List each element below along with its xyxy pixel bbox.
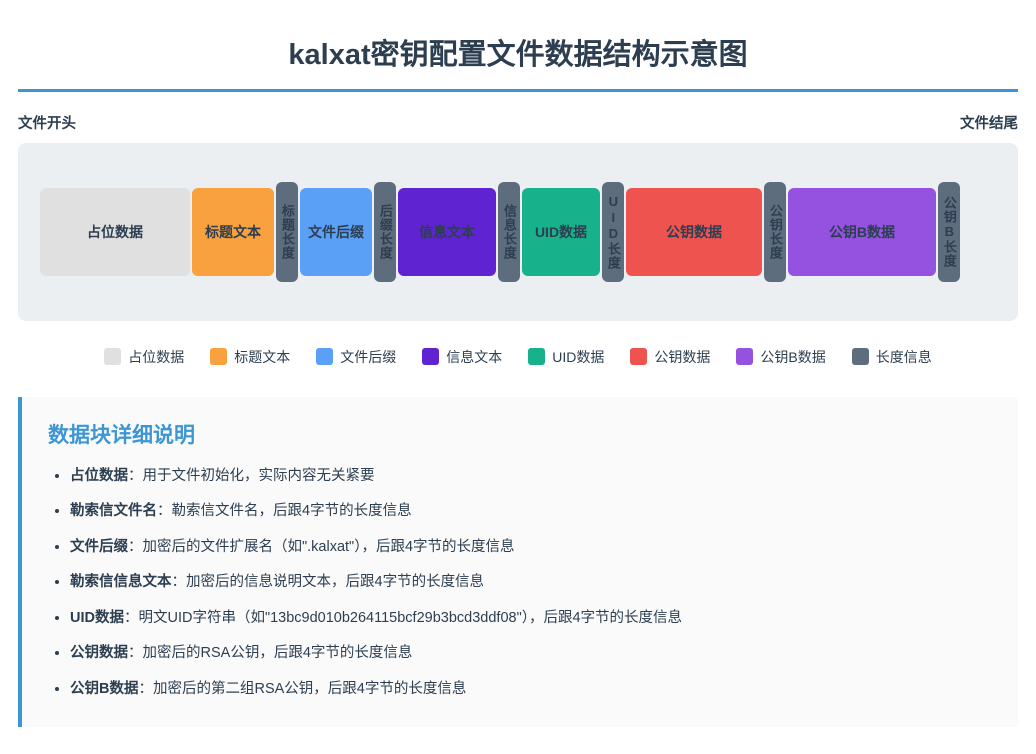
page-title: kalxat密钥配置文件数据结构示意图 (18, 38, 1018, 73)
detail-item-term: 勒索信文件名 (70, 503, 157, 519)
legend-swatch-icon (104, 348, 121, 365)
legend-item-label: 标题文本 (234, 347, 290, 367)
legend-swatch-icon (316, 348, 333, 365)
diagram-block-9: 公钥数据 (626, 188, 762, 276)
legend-item-2: 文件后缀 (316, 347, 396, 367)
diagram-block-8: UID长度 (602, 182, 624, 282)
detail-card: 数据块详细说明 占位数据：用于文件初始化，实际内容无关紧要勒索信文件名：勒索信文… (18, 397, 1018, 727)
legend-item-label: UID数据 (552, 347, 604, 367)
diagram-block-1: 标题文本 (192, 188, 274, 276)
detail-item-term: 文件后缀 (70, 539, 128, 555)
detail-card-title: 数据块详细说明 (48, 419, 992, 449)
file-start-label: 文件开头 (18, 112, 76, 133)
file-end-label: 文件结尾 (960, 112, 1018, 133)
detail-list-item-4: UID数据：明文UID字符串（如"13bc9d010b264115bcf29b3… (70, 607, 992, 629)
diagram-block-label: 公钥B数据 (829, 222, 895, 242)
legend-item-1: 标题文本 (210, 347, 290, 367)
diagram-block-0: 占位数据 (40, 188, 190, 276)
legend-item-4: UID数据 (528, 347, 604, 367)
detail-item-description: ：用于文件初始化，实际内容无关紧要 (128, 468, 375, 484)
legend-item-label: 信息文本 (446, 347, 502, 367)
detail-item-description: ：加密后的信息说明文本，后跟4字节的长度信息 (172, 574, 485, 590)
detail-item-term: 公钥B数据 (70, 681, 138, 697)
diagram-block-label: 公钥数据 (666, 222, 722, 242)
endpoint-labels: 文件开头 文件结尾 (18, 112, 1018, 133)
legend-item-0: 占位数据 (104, 347, 184, 367)
detail-item-description: ：明文UID字符串（如"13bc9d010b264115bcf29b3bcd3d… (124, 610, 682, 626)
diagram-blocks-row: 占位数据标题文本标题长度文件后缀后缀长度信息文本信息长度UID数据UID长度公钥… (40, 143, 996, 321)
detail-item-description: ：勒索信文件名，后跟4字节的长度信息 (157, 503, 412, 519)
legend-swatch-icon (422, 348, 439, 365)
diagram-block-label: 标题长度 (280, 204, 294, 260)
detail-item-description: ：加密后的第二组RSA公钥，后跟4字节的长度信息 (138, 681, 466, 697)
legend-item-5: 公钥数据 (630, 347, 710, 367)
diagram-block-4: 后缀长度 (374, 182, 396, 282)
diagram-block-label: 后缀长度 (378, 204, 392, 260)
legend-swatch-icon (210, 348, 227, 365)
diagram-block-label: 公钥B长度 (942, 196, 956, 268)
diagram-legend: 占位数据标题文本文件后缀信息文本UID数据公钥数据公钥B数据长度信息 (18, 347, 1018, 367)
legend-swatch-icon (736, 348, 753, 365)
diagram-block-label: UID数据 (535, 222, 587, 242)
diagram-block-label: 标题文本 (205, 222, 261, 242)
detail-list-item-0: 占位数据：用于文件初始化，实际内容无关紧要 (70, 465, 992, 487)
detail-list-item-3: 勒索信信息文本：加密后的信息说明文本，后跟4字节的长度信息 (70, 571, 992, 593)
legend-item-6: 公钥B数据 (736, 347, 825, 367)
diagram-block-6: 信息长度 (498, 182, 520, 282)
diagram-block-5: 信息文本 (398, 188, 496, 276)
detail-list: 占位数据：用于文件初始化，实际内容无关紧要勒索信文件名：勒索信文件名，后跟4字节… (48, 465, 992, 700)
legend-item-label: 占位数据 (128, 347, 184, 367)
legend-item-3: 信息文本 (422, 347, 502, 367)
page-root: kalxat密钥配置文件数据结构示意图 文件开头 文件结尾 占位数据标题文本标题… (0, 0, 1036, 754)
diagram-block-label: UID长度 (606, 194, 620, 270)
title-block: kalxat密钥配置文件数据结构示意图 (18, 0, 1018, 92)
diagram-block-label: 占位数据 (87, 222, 143, 242)
diagram-block-10: 公钥长度 (764, 182, 786, 282)
detail-list-item-1: 勒索信文件名：勒索信文件名，后跟4字节的长度信息 (70, 500, 992, 522)
detail-item-term: UID数据 (70, 610, 124, 626)
diagram-block-label: 信息文本 (419, 222, 475, 242)
detail-item-term: 公钥数据 (70, 645, 128, 661)
diagram-block-label: 公钥长度 (768, 204, 782, 260)
detail-list-item-5: 公钥数据：加密后的RSA公钥，后跟4字节的长度信息 (70, 642, 992, 664)
detail-list-item-2: 文件后缀：加密后的文件扩展名（如".kalxat"），后跟4字节的长度信息 (70, 536, 992, 558)
detail-item-description: ：加密后的文件扩展名（如".kalxat"），后跟4字节的长度信息 (128, 539, 515, 555)
diagram-block-2: 标题长度 (276, 182, 298, 282)
legend-item-label: 文件后缀 (340, 347, 396, 367)
detail-item-description: ：加密后的RSA公钥，后跟4字节的长度信息 (128, 645, 412, 661)
legend-swatch-icon (528, 348, 545, 365)
diagram-block-7: UID数据 (522, 188, 600, 276)
detail-list-item-6: 公钥B数据：加密后的第二组RSA公钥，后跟4字节的长度信息 (70, 678, 992, 700)
diagram-block-label: 文件后缀 (308, 222, 364, 242)
detail-item-term: 勒索信信息文本 (70, 574, 172, 590)
legend-item-label: 长度信息 (876, 347, 932, 367)
file-structure-diagram: 占位数据标题文本标题长度文件后缀后缀长度信息文本信息长度UID数据UID长度公钥… (18, 143, 1018, 321)
legend-item-7: 长度信息 (852, 347, 932, 367)
detail-item-term: 占位数据 (70, 468, 128, 484)
diagram-block-3: 文件后缀 (300, 188, 372, 276)
legend-swatch-icon (852, 348, 869, 365)
legend-item-label: 公钥数据 (654, 347, 710, 367)
legend-item-label: 公钥B数据 (760, 347, 825, 367)
diagram-block-11: 公钥B数据 (788, 188, 936, 276)
legend-swatch-icon (630, 348, 647, 365)
diagram-block-label: 信息长度 (502, 204, 516, 260)
diagram-block-12: 公钥B长度 (938, 182, 960, 282)
